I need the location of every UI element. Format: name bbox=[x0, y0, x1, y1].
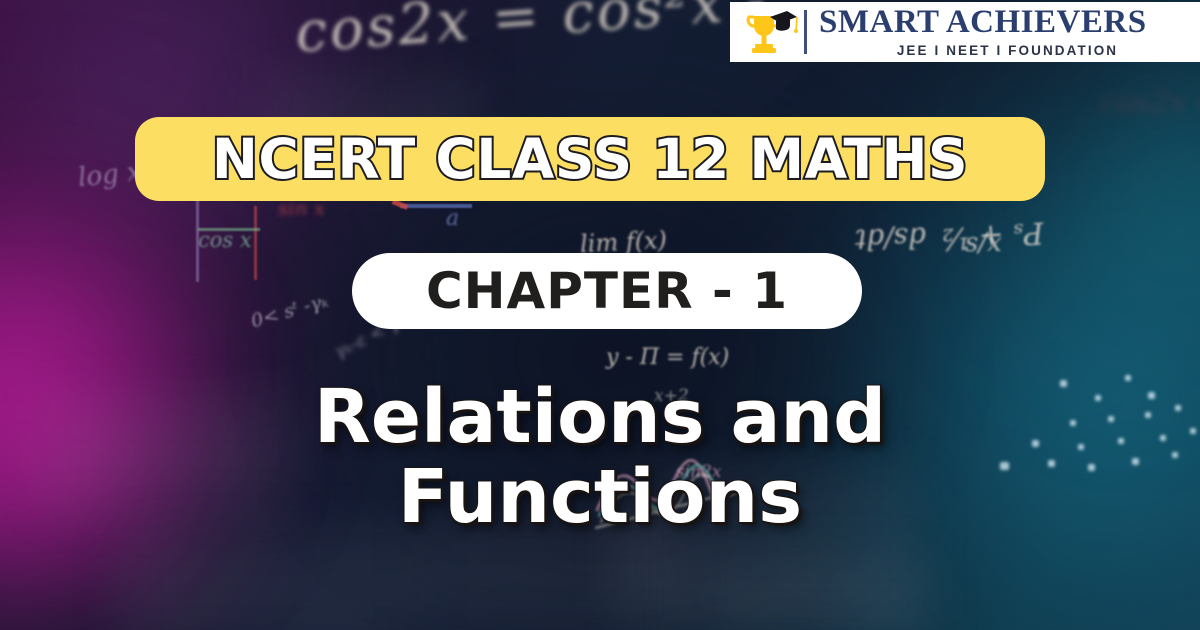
blur-panel bbox=[690, 560, 930, 630]
logo-divider bbox=[804, 10, 807, 54]
poster-canvas: cos2x = cos²x - log x cos x sin x 0< sᵗ … bbox=[0, 0, 1200, 630]
blur-panel bbox=[120, 530, 420, 630]
chalk-axis-horizontal bbox=[198, 228, 260, 231]
subject-line-2: Functions bbox=[0, 458, 1200, 538]
brand-name: SMART ACHIEVERS bbox=[819, 6, 1196, 39]
chalk-axis-vertical bbox=[196, 196, 199, 282]
trophy-graduation-cap-icon bbox=[740, 7, 798, 57]
brand-tagline: JEE I NEET I FOUNDATION bbox=[819, 44, 1196, 58]
chapter-label: CHAPTER - 1 bbox=[426, 262, 788, 320]
page-title: NCERT CLASS 12 MATHS bbox=[212, 127, 968, 191]
chapter-badge: CHAPTER - 1 bbox=[352, 253, 862, 329]
subject-heading: Relations and Functions bbox=[0, 378, 1200, 538]
subject-line-1: Relations and bbox=[0, 378, 1200, 458]
title-banner: NCERT CLASS 12 MATHS bbox=[135, 117, 1045, 201]
logo-text-block: SMART ACHIEVERS JEE I NEET I FOUNDATION bbox=[819, 6, 1196, 58]
chalk-axis-vertical-red bbox=[254, 206, 257, 280]
chalk-underline-blue bbox=[400, 204, 472, 208]
brand-logo[interactable]: SMART ACHIEVERS JEE I NEET I FOUNDATION bbox=[730, 2, 1200, 62]
